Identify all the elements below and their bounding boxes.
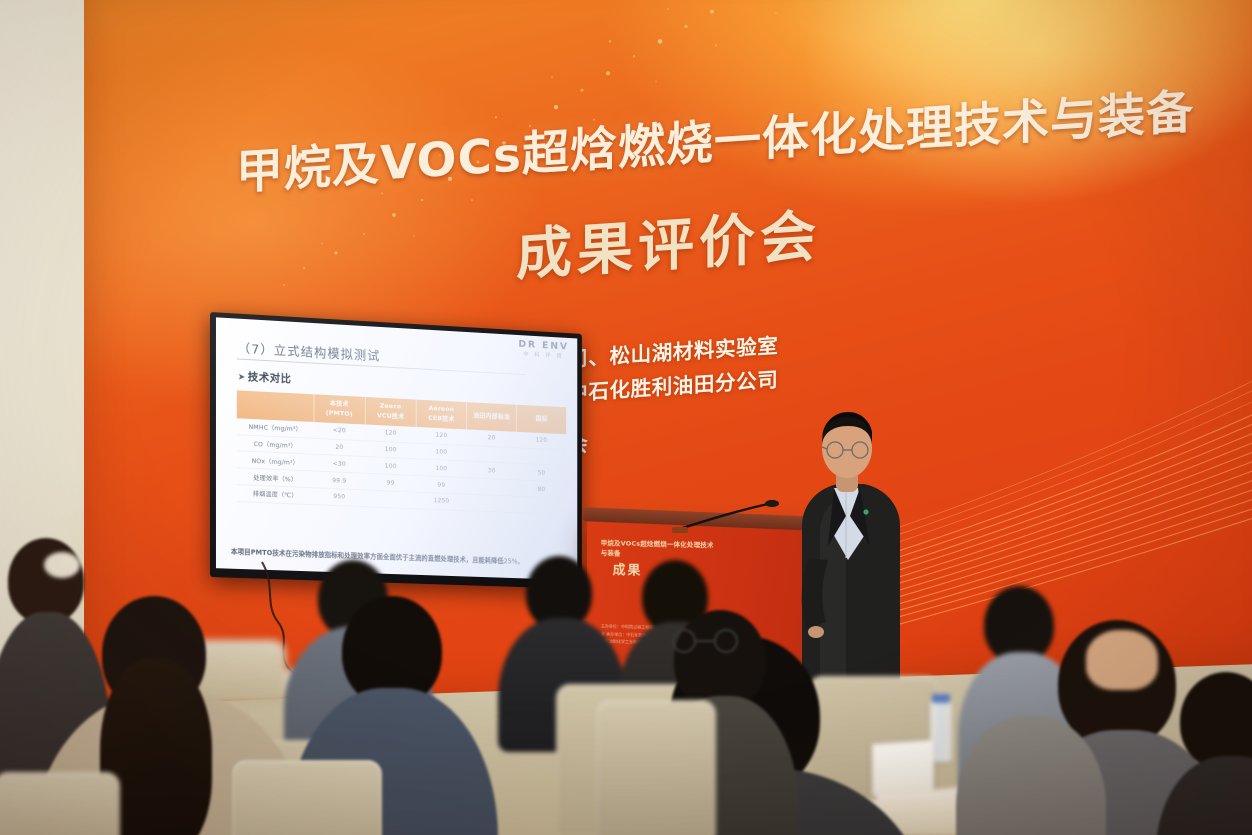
presentation-screen[interactable]: DR ENV 中 科 环 境 （7）立式结构模拟测试 ➤技术对比 本技术(PMT… [210, 312, 582, 589]
chair [0, 772, 120, 835]
technology-comparison-table: 本技术(PMTO) ZeecoVCU技术 AereonCEB技术 油田内部标准 … [237, 390, 566, 515]
col-header-2: ZeecoVCU技术 [365, 397, 416, 427]
slide-surface: DR ENV 中 科 环 境 （7）立式结构模拟测试 ➤技术对比 本技术(PMT… [216, 317, 577, 580]
hand [1086, 630, 1158, 690]
audience-person [1166, 672, 1252, 835]
col-header-0 [237, 390, 314, 421]
col-header-3: AereonCEB技术 [416, 400, 467, 430]
col-header-1: 本技术(PMTO) [313, 394, 365, 424]
logo-wordmark: DR ENV [518, 340, 569, 353]
row-label: 排烟温度（℃） [237, 485, 314, 505]
company-logo: DR ENV 中 科 环 境 [518, 340, 569, 360]
slide-bullet-label: 技术对比 [248, 371, 292, 385]
chair [232, 760, 382, 835]
bullet-arrow-icon: ➤ [238, 372, 246, 382]
presentation-photo-scene: 甲烷及VOCs超焓燃烧一体化处理技术与装备 成果评价会 有限公司、松山湖材料实验… [0, 0, 1252, 835]
slide-bullet-heading: ➤技术对比 [238, 368, 292, 386]
hair-scrunchie [44, 552, 80, 578]
col-header-5: 国标 [517, 405, 567, 434]
backdrop-headline: 甲烷及VOCs超焓燃烧一体化处理技术与装备 [236, 84, 1246, 198]
audience-person [956, 690, 1106, 835]
cell: 80 [517, 480, 567, 498]
bottle-cap [932, 694, 950, 703]
eyeglasses-icon [668, 628, 744, 654]
cell [365, 490, 416, 509]
screen-bezel: DR ENV 中 科 环 境 （7）立式结构模拟测试 ➤技术对比 本技术(PMT… [210, 312, 582, 589]
col-header-4: 油田内部标准 [467, 402, 517, 432]
cell: 1250 [416, 492, 467, 510]
cell [467, 478, 517, 496]
cell: 950 [313, 488, 365, 507]
cell [517, 496, 567, 514]
chair [596, 700, 716, 835]
cell [467, 494, 517, 512]
logo-subtext: 中 科 环 境 [518, 352, 569, 360]
backdrop-subhead: 成果评价会 [516, 184, 936, 292]
table-body: NMHC（mg/m³） <20 120 120 20 120 CO（mg/m³）… [237, 418, 566, 514]
